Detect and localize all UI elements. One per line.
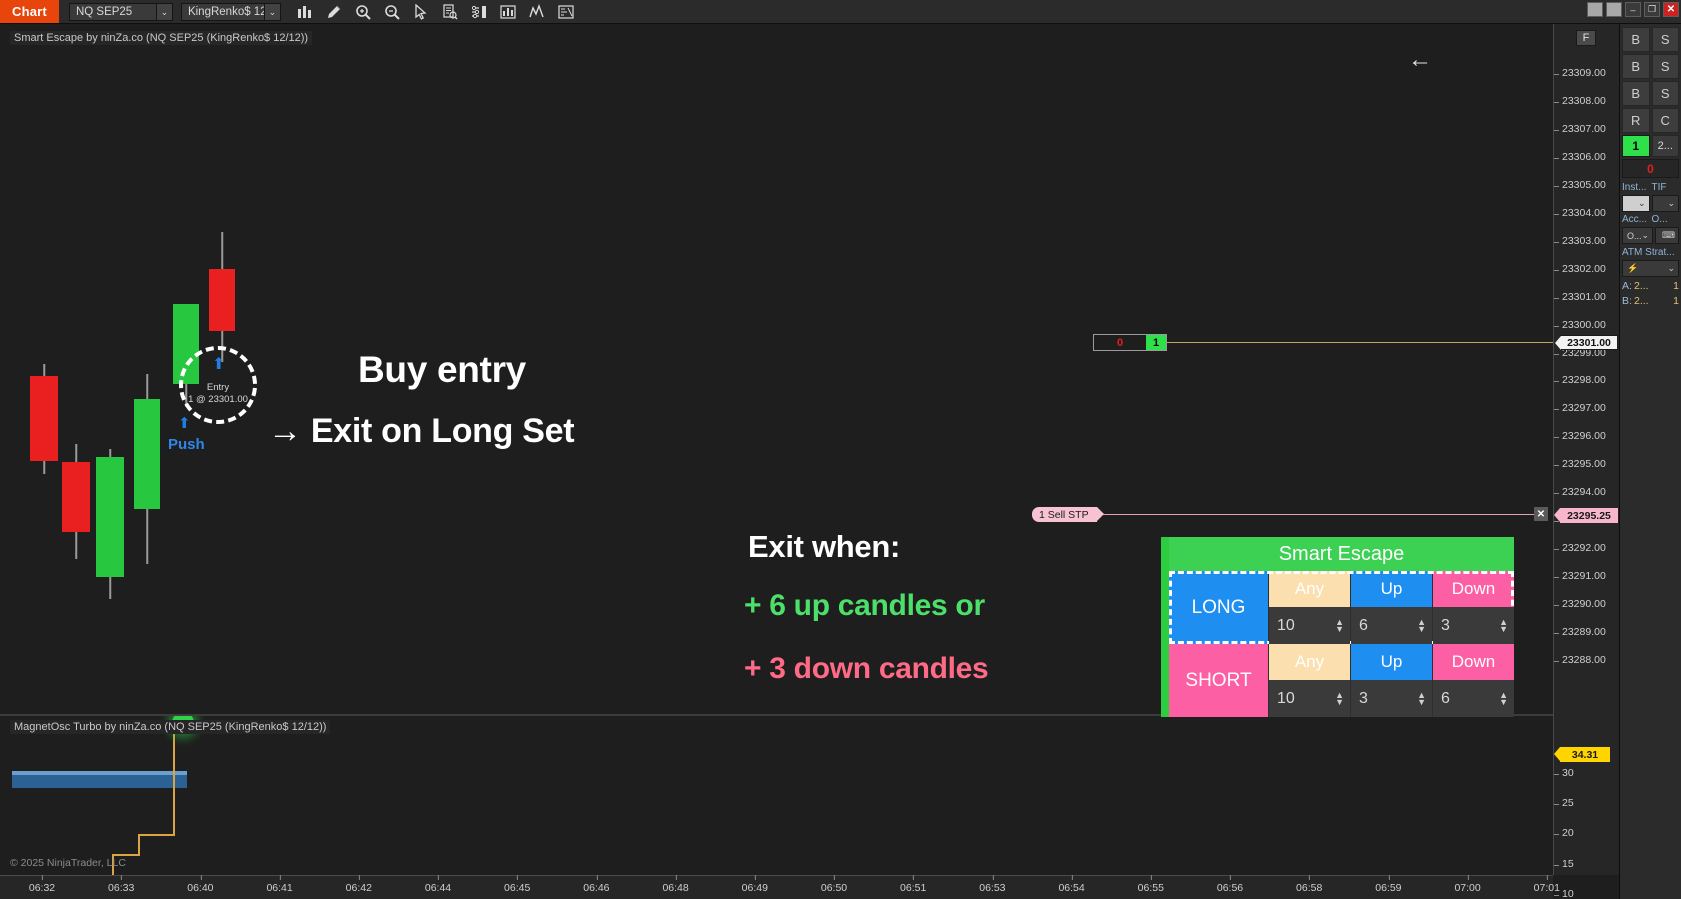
- time-tick: 06:32: [29, 882, 55, 894]
- instrument-label: Inst...: [1622, 182, 1650, 193]
- instrument-tif-labels: Inst... TIF: [1622, 182, 1679, 193]
- atm-strategy-label: ATM Strat...: [1622, 247, 1679, 258]
- entry-marker-detail: 1 @ 23301.00: [172, 394, 264, 406]
- candle-6: [209, 232, 235, 362]
- time-tick: 06:51: [900, 882, 926, 894]
- restore-button-1[interactable]: [1587, 2, 1603, 17]
- data-series-icon[interactable]: [440, 2, 460, 22]
- order-button-row: BS: [1622, 27, 1679, 52]
- bid-row: B: 2... 1: [1622, 295, 1679, 307]
- strategy-icon[interactable]: [527, 2, 547, 22]
- oscillator-tick-label: 20: [1562, 827, 1574, 839]
- price-tick-label: 23290.00: [1562, 598, 1606, 610]
- stop-price-badge: 23295.25: [1560, 508, 1618, 523]
- spinner-arrows[interactable]: ▲▼: [1335, 692, 1344, 706]
- price-tick-label: 23292.00: [1562, 542, 1606, 554]
- indicators-icon[interactable]: [469, 2, 489, 22]
- time-tick: 06:45: [504, 882, 530, 894]
- push-arrow-up-icon: ⬆: [178, 416, 191, 431]
- price-tick-label: 23309.00: [1562, 67, 1606, 79]
- smart-escape-value: 10: [1277, 617, 1295, 635]
- interval-selector[interactable]: KingRenko$ 12... ⌄: [181, 3, 281, 21]
- price-tick-label: 23305.00: [1562, 179, 1606, 191]
- stop-order-line: [1100, 514, 1538, 515]
- sell-stop-tag[interactable]: 1 Sell STP: [1032, 507, 1097, 522]
- bid-key: B:: [1622, 295, 1634, 307]
- annotation-exit-when: Exit when:: [748, 529, 900, 565]
- smart-escape-value: 6: [1441, 690, 1450, 708]
- smart-escape-column-any: Any10▲▼: [1268, 571, 1350, 644]
- time-tick: 06:42: [346, 882, 372, 894]
- instrument-value: NQ SEP25: [70, 6, 156, 18]
- smart-escape-spinner[interactable]: 6▲▼: [1433, 680, 1514, 717]
- instrument-selector[interactable]: NQ SEP25 ⌄: [69, 3, 173, 21]
- time-tick: 07:00: [1454, 882, 1480, 894]
- ask-size: 1: [1673, 280, 1679, 292]
- templates-icon[interactable]: [556, 2, 576, 22]
- entry-order-working-qty: 0: [1094, 335, 1146, 350]
- spinner-arrows[interactable]: ▲▼: [1335, 619, 1344, 633]
- spinner-arrows[interactable]: ▲▼: [1499, 619, 1508, 633]
- order-type-label: O...: [1652, 214, 1680, 225]
- lightning-icon: ⚡: [1627, 263, 1638, 274]
- order-button-row: RC: [1622, 108, 1679, 133]
- smart-escape-value: 6: [1359, 617, 1368, 635]
- price-tick-label: 23291.00: [1562, 570, 1606, 582]
- smart-escape-column-header[interactable]: Any: [1269, 571, 1350, 607]
- spinner-down-icon[interactable]: ▼: [1499, 626, 1508, 633]
- time-tick: 06:55: [1138, 882, 1164, 894]
- price-tick-label: 23289.00: [1562, 626, 1606, 638]
- smart-escape-column-up: Up3▲▼: [1350, 644, 1432, 717]
- tif-label: TIF: [1652, 182, 1680, 193]
- oscillator-value-badge: 34.31: [1560, 747, 1610, 762]
- order-button-r-4[interactable]: R: [1622, 108, 1650, 133]
- order-button-s-2[interactable]: S: [1652, 54, 1680, 79]
- quantity-row[interactable]: 1 2...: [1622, 135, 1679, 157]
- time-tick: 06:33: [108, 882, 134, 894]
- oscillator-tick-label: 10: [1562, 888, 1574, 899]
- price-tick-label: 23308.00: [1562, 95, 1606, 107]
- order-button-b-3[interactable]: B: [1622, 81, 1650, 106]
- instrument-select[interactable]: ⌄: [1622, 195, 1650, 212]
- scroll-back-arrow-icon[interactable]: ←: [1408, 46, 1432, 74]
- account-order-row[interactable]: O... ⌄ ⌨: [1622, 227, 1679, 244]
- time-tick: 06:54: [1058, 882, 1084, 894]
- price-tick-label: 23303.00: [1562, 235, 1606, 247]
- oscillator-tick-label: 25: [1562, 797, 1574, 809]
- account-value: O...: [1627, 231, 1642, 241]
- oscillator-line-seg-1: [173, 724, 175, 836]
- smart-escape-column-down: Down6▲▼: [1432, 644, 1514, 717]
- entry-marker-label: Entry: [182, 382, 254, 394]
- smart-escape-side-label: SHORT: [1169, 644, 1268, 717]
- smart-escape-spinner[interactable]: 3▲▼: [1351, 680, 1432, 717]
- smart-escape-spinner[interactable]: 6▲▼: [1351, 607, 1432, 644]
- spinner-arrows[interactable]: ▲▼: [1417, 619, 1426, 633]
- order-button-c-4[interactable]: C: [1652, 108, 1680, 133]
- oscillator-line-seg-2: [138, 834, 175, 836]
- maximize-button[interactable]: ❐: [1644, 2, 1660, 17]
- bid-size: 1: [1673, 295, 1679, 307]
- spinner-down-icon[interactable]: ▼: [1499, 699, 1508, 706]
- tif-select[interactable]: ⌄: [1652, 195, 1680, 212]
- smart-escape-side-label: LONG: [1169, 571, 1268, 644]
- time-axis[interactable]: 06:3206:3306:4006:4106:4206:4406:4506:46…: [0, 875, 1553, 899]
- chart-tab[interactable]: Chart: [0, 0, 59, 23]
- smart-escape-column-header[interactable]: Down: [1433, 571, 1514, 607]
- zoom-in-icon[interactable]: [353, 2, 373, 22]
- candle-4: [134, 374, 160, 564]
- order-button-row: BS: [1622, 81, 1679, 106]
- ask-row: A: 2... 1: [1622, 280, 1679, 292]
- candle-2: [62, 444, 90, 559]
- push-label: Push: [168, 436, 205, 453]
- price-tick-label: 23288.00: [1562, 654, 1606, 666]
- cursor-pointer-icon[interactable]: [411, 2, 431, 22]
- restore-button-2[interactable]: [1606, 2, 1622, 17]
- smart-escape-spinner[interactable]: 10▲▼: [1269, 607, 1350, 644]
- price-tick-label: 23296.00: [1562, 430, 1606, 442]
- annotation-three-down-candles: + 3 down candles: [744, 652, 988, 686]
- zoom-out-icon[interactable]: [382, 2, 402, 22]
- price-tick-label: 23298.00: [1562, 374, 1606, 386]
- price-tick-label: 23306.00: [1562, 151, 1606, 163]
- smart-escape-value: 10: [1277, 690, 1295, 708]
- atm-strategy-select[interactable]: ⚡ ⌄: [1622, 260, 1679, 277]
- smart-escape-column-up: Up6▲▼: [1350, 571, 1432, 644]
- chevron-down-icon: ⌄: [1642, 230, 1650, 241]
- time-tick: 06:49: [742, 882, 768, 894]
- smart-escape-row-long[interactable]: LONGAny10▲▼Up6▲▼Down3▲▼: [1169, 571, 1514, 644]
- pencil-draw-icon[interactable]: [324, 2, 344, 22]
- price-axis[interactable]: F 23309.0023308.0023307.0023306.0023305.…: [1553, 24, 1619, 875]
- oscillator-band-top: [12, 771, 187, 775]
- spinner-arrows[interactable]: ▲▼: [1417, 692, 1426, 706]
- chart-container: Smart Escape by ninZa.co (NQ SEP25 (King…: [0, 24, 1681, 899]
- chart-toolbar: [295, 0, 576, 23]
- cancel-order-icon[interactable]: ✕: [1534, 507, 1548, 521]
- smart-escape-accent-bar: [1161, 537, 1169, 717]
- time-tick: 06:40: [187, 882, 213, 894]
- window-controls: – ❐ ✕: [1587, 2, 1679, 17]
- annotation-exit-on-long-set: → Exit on Long Set: [268, 412, 574, 451]
- axis-fit-button[interactable]: F: [1576, 30, 1596, 46]
- position-size: 0: [1622, 159, 1679, 178]
- order-button-s-3[interactable]: S: [1652, 81, 1680, 106]
- entry-order-filled-qty: 1: [1146, 335, 1166, 350]
- price-tick-label: 23300.00: [1562, 319, 1606, 331]
- smart-escape-value: 3: [1359, 690, 1368, 708]
- time-tick: 06:48: [662, 882, 688, 894]
- spinner-down-icon[interactable]: ▼: [1335, 699, 1344, 706]
- close-button[interactable]: ✕: [1663, 2, 1679, 17]
- time-tick: 06:58: [1296, 882, 1322, 894]
- time-tick: 06:46: [583, 882, 609, 894]
- candle-1: [30, 364, 58, 474]
- oscillator-tick-label: 30: [1562, 767, 1574, 779]
- smart-escape-title: Smart Escape: [1169, 537, 1514, 571]
- smart-escape-column-header[interactable]: Up: [1351, 571, 1432, 607]
- titlebar: Chart NQ SEP25 ⌄ KingRenko$ 12... ⌄: [0, 0, 1681, 24]
- price-tick-label: 23304.00: [1562, 207, 1606, 219]
- oscillator-line-seg-4: [112, 854, 140, 856]
- price-tick-label: 23307.00: [1562, 123, 1606, 135]
- order-button-row: BS: [1622, 54, 1679, 79]
- smart-escape-column-down: Down3▲▼: [1432, 571, 1514, 644]
- oscillator-pane[interactable]: MagnetOsc Turbo by ninZa.co (NQ SEP25 (K…: [0, 716, 1553, 875]
- bar-chart-icon[interactable]: [295, 2, 315, 22]
- order-button-b-2[interactable]: B: [1622, 54, 1650, 79]
- smart-escape-widget[interactable]: Smart Escape LONGAny10▲▼Up6▲▼Down3▲▼SHOR…: [1161, 537, 1514, 717]
- account-order-labels: Acc... O...: [1622, 214, 1679, 225]
- entry-order-line: [1160, 342, 1553, 343]
- account-label: Acc...: [1622, 214, 1650, 225]
- smart-escape-column-any: Any10▲▼: [1268, 644, 1350, 717]
- ask-price: 2...: [1634, 280, 1673, 292]
- interval-value: KingRenko$ 12...: [182, 6, 264, 18]
- smart-escape-column-header[interactable]: Up: [1351, 644, 1432, 680]
- smart-escape-column-header[interactable]: Down: [1433, 644, 1514, 680]
- order-entry-panel[interactable]: BSBSBSRC 1 2... 0 Inst... TIF ⌄ ⌄ Acc...…: [1619, 24, 1681, 899]
- smart-escape-value: 3: [1441, 617, 1450, 635]
- time-tick: 06:44: [425, 882, 451, 894]
- candle-3: [96, 449, 124, 599]
- spinner-arrows[interactable]: ▲▼: [1499, 692, 1508, 706]
- price-tick-label: 23301.00: [1562, 291, 1606, 303]
- time-tick: 06:53: [979, 882, 1005, 894]
- order-button-s-1[interactable]: S: [1652, 27, 1680, 52]
- time-tick: 06:50: [821, 882, 847, 894]
- price-pane-title: Smart Escape by ninZa.co (NQ SEP25 (King…: [10, 31, 312, 45]
- chart-properties-icon[interactable]: [498, 2, 518, 22]
- entry-order-box[interactable]: 0 1: [1093, 334, 1167, 351]
- quantity-preset[interactable]: 2...: [1652, 135, 1680, 157]
- spinner-down-icon[interactable]: ▼: [1417, 626, 1426, 633]
- chevron-down-icon[interactable]: ⌄: [156, 4, 172, 20]
- last-price-badge: 23301.00: [1560, 335, 1618, 350]
- chevron-down-icon[interactable]: ⌄: [264, 4, 280, 20]
- account-select[interactable]: O... ⌄: [1622, 227, 1653, 244]
- price-tick-label: 23295.00: [1562, 458, 1606, 470]
- order-button-b-1[interactable]: B: [1622, 27, 1650, 52]
- spinner-down-icon[interactable]: ▼: [1335, 626, 1344, 633]
- price-tick-label: 23297.00: [1562, 402, 1606, 414]
- spinner-down-icon[interactable]: ▼: [1417, 699, 1426, 706]
- minimize-button[interactable]: –: [1625, 2, 1641, 17]
- annotation-six-up-candles: + 6 up candles or: [744, 589, 985, 623]
- ask-key: A:: [1622, 280, 1634, 292]
- calculator-button[interactable]: ⌨: [1655, 227, 1679, 244]
- quantity-value[interactable]: 1: [1622, 135, 1650, 157]
- instrument-tif-row[interactable]: ⌄ ⌄: [1622, 195, 1679, 212]
- time-tick: 06:56: [1217, 882, 1243, 894]
- chevron-down-icon: ⌄: [1667, 263, 1675, 274]
- smart-escape-spinner[interactable]: 3▲▼: [1433, 607, 1514, 644]
- copyright-label: © 2025 NinjaTrader, LLC: [10, 857, 126, 869]
- entry-arrow-up-icon: ⬆: [212, 357, 225, 373]
- smart-escape-row-short[interactable]: SHORTAny10▲▼Up3▲▼Down6▲▼: [1169, 644, 1514, 717]
- bid-price: 2...: [1634, 295, 1673, 307]
- time-tick: 06:41: [266, 882, 292, 894]
- oscillator-line-seg-3: [138, 834, 140, 856]
- smart-escape-column-header[interactable]: Any: [1269, 644, 1350, 680]
- price-tick-label: 23302.00: [1562, 263, 1606, 275]
- oscillator-pane-title: MagnetOsc Turbo by ninZa.co (NQ SEP25 (K…: [10, 720, 330, 734]
- annotation-buy-entry: Buy entry: [358, 349, 526, 391]
- price-tick-label: 23294.00: [1562, 486, 1606, 498]
- time-tick: 07:01: [1534, 882, 1560, 894]
- smart-escape-spinner[interactable]: 10▲▼: [1269, 680, 1350, 717]
- atm-strategy-row[interactable]: ⚡ ⌄: [1622, 260, 1679, 277]
- time-tick: 06:59: [1375, 882, 1401, 894]
- oscillator-tick-label: 15: [1562, 858, 1574, 870]
- oscillator-band: [12, 774, 187, 788]
